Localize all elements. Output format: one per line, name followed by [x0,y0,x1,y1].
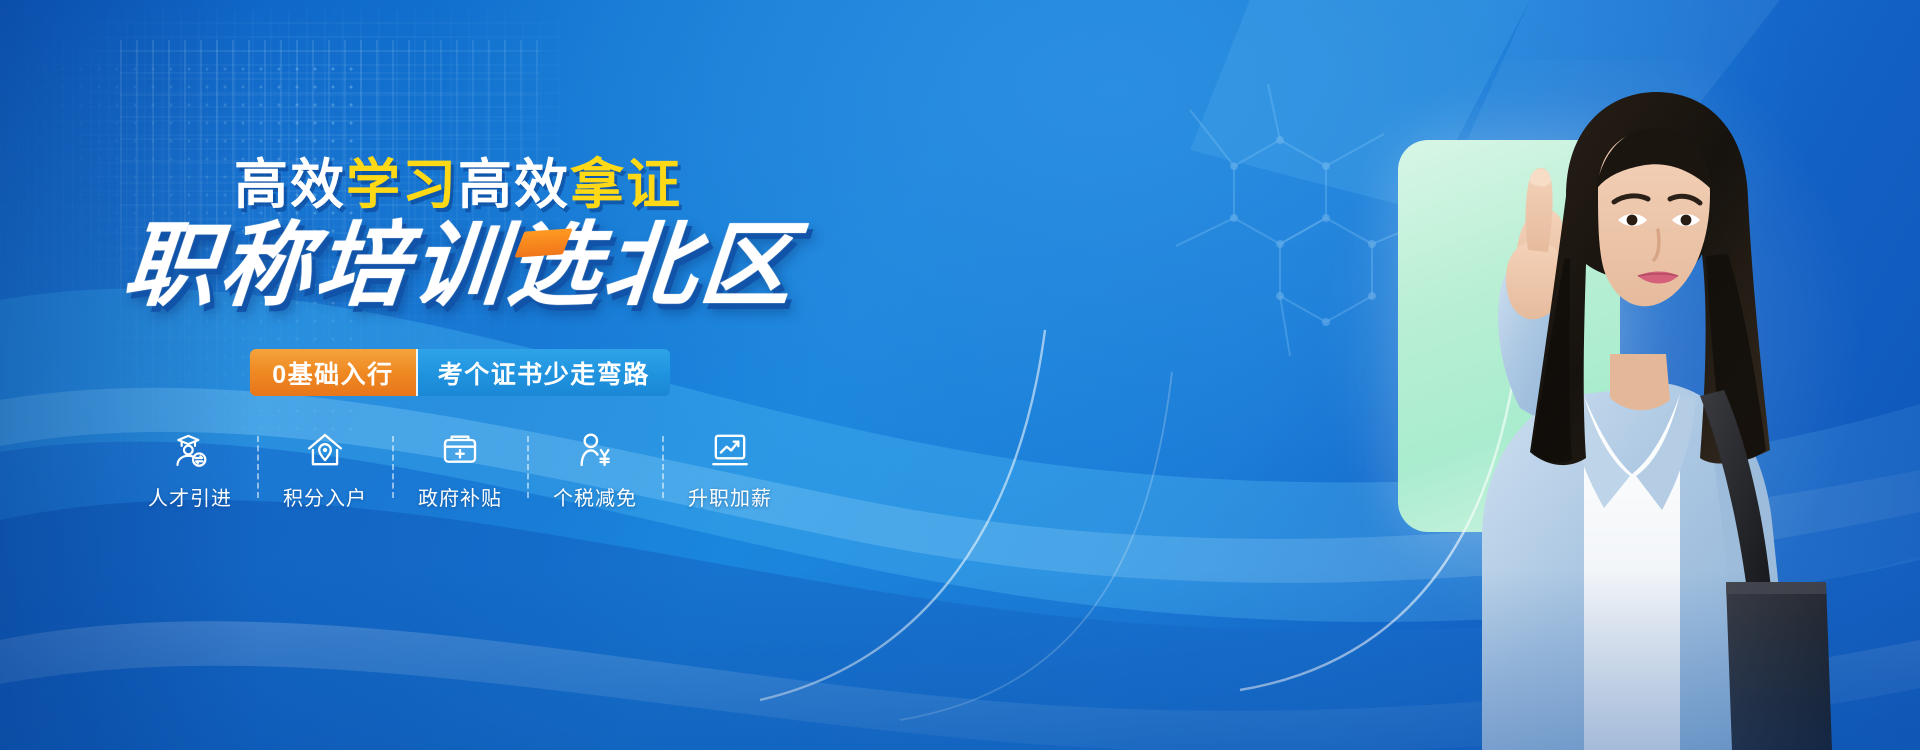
feature-item-government-subsidy[interactable]: 政府补贴 [394,430,527,511]
hexagon-molecule-art [1130,70,1490,370]
copy-block: 高效学习高效拿证 职称培训选北区 0基础入行 考个证书少走弯路 [0,0,960,750]
feature-item-points-residency[interactable]: 积分入户 [259,430,392,511]
kicker-part-3: 高效 [458,155,570,215]
promo-banner: 高效学习高效拿证 职称培训选北区 0基础入行 考个证书少走弯路 [0,0,1920,750]
headline-main: 职称培训选北区 [120,218,800,315]
feature-label: 积分入户 [283,482,367,511]
kicker-part-1: 高效 [234,155,346,215]
badge-row: 0基础入行 考个证书少走弯路 [0,349,920,396]
kicker-part-4: 拿证 [570,155,682,215]
feature-label: 个税减免 [553,482,637,511]
house-pin-icon [305,430,345,470]
bottom-edge-vignette [0,570,1920,750]
feature-label: 升职加薪 [688,482,772,511]
kicker-part-2: 学习 [346,155,458,215]
feature-item-tax-reduction[interactable]: 个税减免 [529,430,662,511]
growth-chart-icon [710,430,750,470]
headline-main-wrap: 职称培训选北区 [0,218,920,315]
headline-kicker: 高效学习高效拿证 [0,158,916,212]
person-yuan-icon [575,430,615,470]
badge-zero-basis[interactable]: 0基础入行 [250,349,415,396]
feature-row: 人才引进 积分入户 政府补贴 [0,430,920,511]
feature-item-talent-introduction[interactable]: 人才引进 [124,430,257,511]
subsidy-wallet-icon [440,430,480,470]
feature-label: 人才引进 [148,482,232,511]
feature-item-promotion-raise[interactable]: 升职加薪 [664,430,797,511]
graduate-exchange-icon [170,430,210,470]
badge-certificate-shortcut[interactable]: 考个证书少走弯路 [416,349,670,396]
headline-main-text: 职称培训选北区 [120,215,801,317]
feature-label: 政府补贴 [418,482,502,511]
